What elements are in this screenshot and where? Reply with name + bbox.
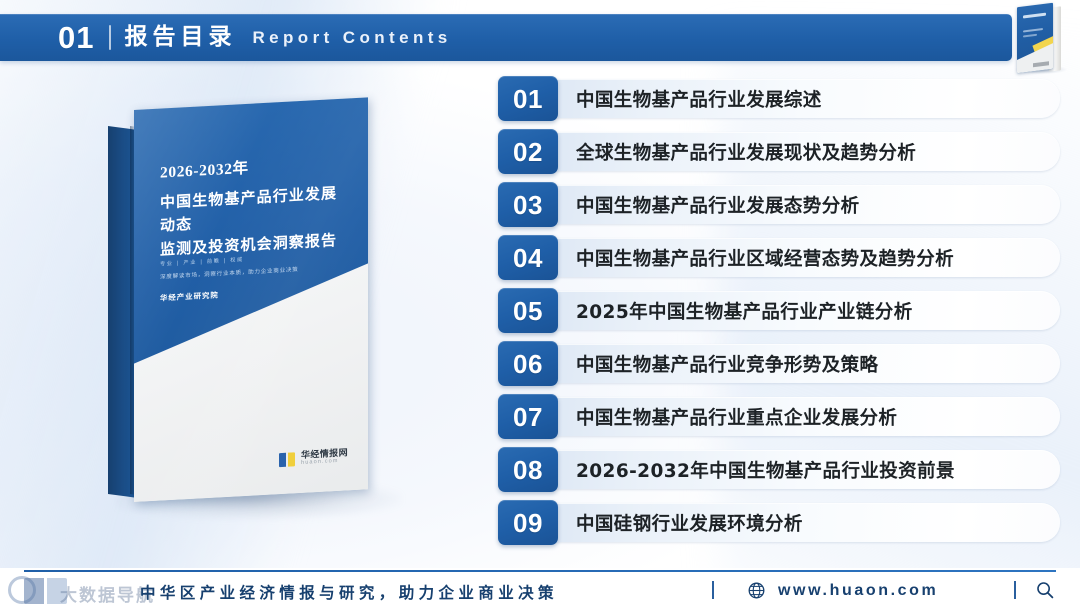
- mini-book-sub-line-1: [1023, 28, 1043, 32]
- toc-number: 07: [513, 404, 543, 430]
- toc-label: 中国生物基产品行业重点企业发展分析: [576, 404, 897, 430]
- toc-number-badge: 07: [498, 394, 558, 439]
- toc-number-badge: 05: [498, 288, 558, 333]
- report-book-mockup: 2026-2032年 中国生物基产品行业发展动态 监测及投资机会洞察报告 专业 …: [108, 110, 408, 530]
- header-content: 01 报告目录 Report Contents: [58, 14, 452, 61]
- toc-number: 09: [513, 510, 543, 536]
- toc-number-badge: 04: [498, 235, 558, 280]
- toc-number: 06: [513, 351, 543, 377]
- footer-divider-1: [712, 581, 714, 599]
- footer-divider-2: [1014, 581, 1016, 599]
- toc-number-badge: 06: [498, 341, 558, 386]
- toc-label: 2025年中国生物基产品行业产业链分析: [576, 298, 913, 324]
- toc-number: 01: [513, 86, 543, 112]
- toc-item-07[interactable]: 07 中国生物基产品行业重点企业发展分析: [498, 394, 1060, 439]
- toc-number: 05: [513, 298, 543, 324]
- search-icon[interactable]: [1036, 581, 1054, 599]
- footer: 大数据导航 中华区产业经济情报与研究，助力企业商业决策 www.huaon.co…: [0, 568, 1080, 614]
- toc-item-03[interactable]: 03 中国生物基产品行业发展态势分析: [498, 182, 1060, 227]
- toc-number-badge: 09: [498, 500, 558, 545]
- huaon-logo-icon: [279, 453, 296, 468]
- toc-number: 04: [513, 245, 543, 271]
- toc-item-02[interactable]: 02 全球生物基产品行业发展现状及趋势分析: [498, 129, 1060, 174]
- toc-item-05[interactable]: 05 2025年中国生物基产品行业产业链分析: [498, 288, 1060, 333]
- header-divider: [109, 25, 111, 50]
- toc-number: 02: [513, 139, 543, 165]
- header-title-cn: 报告目录: [124, 26, 236, 49]
- toc-number: 03: [513, 192, 543, 218]
- toc-number-badge: 02: [498, 129, 558, 174]
- slide-page: 01 报告目录 Report Contents 2026-2032年: [0, 0, 1080, 614]
- toc-item-01[interactable]: 01 中国生物基产品行业发展综述: [498, 76, 1060, 121]
- header-section-number: 01: [58, 22, 94, 53]
- toc-label: 中国生物基产品行业竞争形势及策略: [576, 351, 878, 377]
- footer-url[interactable]: www.huaon.com: [778, 582, 938, 600]
- toc-item-06[interactable]: 06 中国生物基产品行业竞争形势及策略: [498, 341, 1060, 386]
- toc-label: 2026-2032年中国生物基产品行业投资前景: [576, 457, 955, 483]
- toc-item-08[interactable]: 08 2026-2032年中国生物基产品行业投资前景: [498, 447, 1060, 492]
- book-cover: 2026-2032年 中国生物基产品行业发展动态 监测及投资机会洞察报告 专业 …: [134, 97, 368, 502]
- mini-book-thumbnail: [1009, 3, 1071, 76]
- header-title-en: Report Contents: [252, 29, 451, 46]
- toc-label: 中国生物基产品行业发展态势分析: [576, 192, 860, 218]
- toc-label: 中国生物基产品行业发展综述: [576, 86, 822, 112]
- toc-item-09[interactable]: 09 中国硅钢行业发展环境分析: [498, 500, 1060, 545]
- toc-number: 08: [513, 457, 543, 483]
- book-cover-text: 2026-2032年 中国生物基产品行业发展动态 监测及投资机会洞察报告: [160, 150, 350, 261]
- mini-book-sub-line-2: [1023, 34, 1037, 37]
- mini-book-title-line: [1023, 13, 1046, 18]
- toc-number-badge: 01: [498, 76, 558, 121]
- toc-number-badge: 03: [498, 182, 558, 227]
- globe-icon: [748, 582, 765, 599]
- toc-item-04[interactable]: 04 中国生物基产品行业区域经营态势及趋势分析: [498, 235, 1060, 280]
- toc-label: 中国生物基产品行业区域经营态势及趋势分析: [576, 245, 954, 271]
- footer-rule: [24, 570, 1056, 572]
- toc-number-badge: 08: [498, 447, 558, 492]
- table-of-contents: 01 中国生物基产品行业发展综述 02 全球生物基产品行业发展现状及趋势分析 0…: [498, 76, 1060, 553]
- toc-label: 中国硅钢行业发展环境分析: [576, 510, 803, 536]
- mini-book-cover: [1017, 3, 1053, 73]
- footer-tagline: 中华区产业经济情报与研究，助力企业商业决策: [140, 581, 558, 603]
- toc-label: 全球生物基产品行业发展现状及趋势分析: [576, 139, 916, 165]
